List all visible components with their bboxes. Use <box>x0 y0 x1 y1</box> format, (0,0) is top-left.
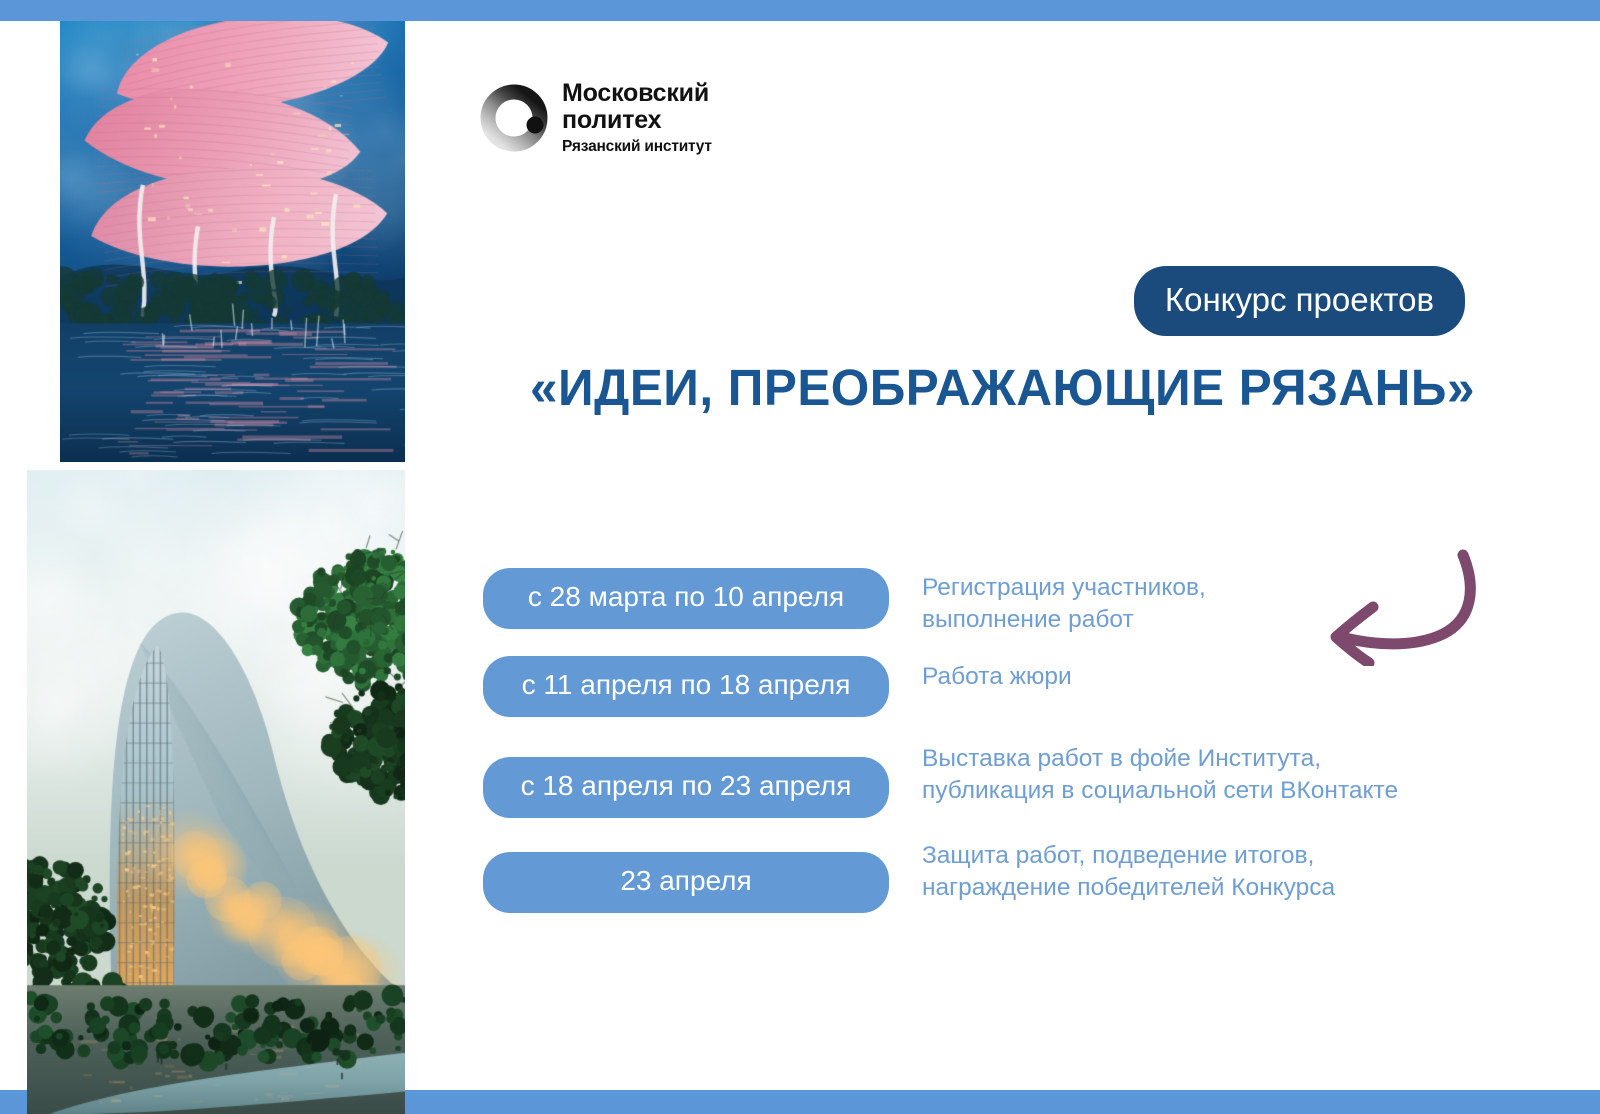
schedule-description: Выставка работ в фойе Института, публика… <box>889 739 1542 807</box>
schedule-period-pill: 23 апреля <box>483 852 889 913</box>
schedule-period-pill: с 28 марта по 10 апреля <box>483 568 889 629</box>
photo-bottom <box>27 470 405 1114</box>
schedule-period-pill: с 11 апреля по 18 апреля <box>483 656 889 717</box>
schedule-list: с 28 марта по 10 апреля Регистрация учас… <box>483 568 1563 913</box>
schedule-description-line: Работа жюри <box>922 661 1542 693</box>
logo-line-2: политех <box>562 107 712 134</box>
kicker-row: Конкурс проектов <box>405 266 1600 336</box>
schedule-description-line: Защита работ, подведение итогов, <box>922 840 1542 872</box>
kicker-badge: Конкурс проектов <box>1134 266 1465 336</box>
schedule-description: Регистрация участников, выполнение работ <box>889 568 1542 636</box>
schedule-description: Защита работ, подведение итогов, награжд… <box>889 836 1542 904</box>
page-title: «ИДЕИ, ПРЕОБРАЖАЮЩИЕ РЯЗАНЬ» <box>423 359 1582 417</box>
schedule-description-line: выполнение работ <box>922 604 1542 636</box>
schedule-description-line: публикация в социальной сети ВКонтакте <box>922 775 1542 807</box>
schedule-period-pill: с 18 апреля по 23 апреля <box>483 757 889 818</box>
schedule-row: 23 апреля Защита работ, подведение итого… <box>483 836 1563 913</box>
schedule-description-line: Регистрация участников, <box>922 572 1542 604</box>
logo-line-3: Рязанский институт <box>562 136 712 158</box>
logo-wordmark: Московский политех Рязанский институт <box>562 78 712 158</box>
photo-top <box>60 0 405 462</box>
poster-slide: Московский политех Рязанский институт Ко… <box>0 0 1600 1114</box>
logo-lockup: Московский политех Рязанский институт <box>480 78 712 158</box>
gradient-ring-logo-icon <box>480 84 548 152</box>
schedule-description: Работа жюри <box>889 656 1542 693</box>
schedule-row: с 11 апреля по 18 апреля Работа жюри <box>483 656 1563 717</box>
schedule-description-line: награждение победителей Конкурса <box>922 872 1542 904</box>
schedule-description-line: Выставка работ в фойе Института, <box>922 743 1542 775</box>
top-accent-bar <box>0 0 1600 21</box>
logo-line-1: Московский <box>562 80 712 107</box>
content-panel: Московский политех Рязанский институт Ко… <box>405 21 1600 1090</box>
schedule-row: с 18 апреля по 23 апреля Выставка работ … <box>483 739 1563 818</box>
schedule-row: с 28 марта по 10 апреля Регистрация учас… <box>483 568 1563 636</box>
